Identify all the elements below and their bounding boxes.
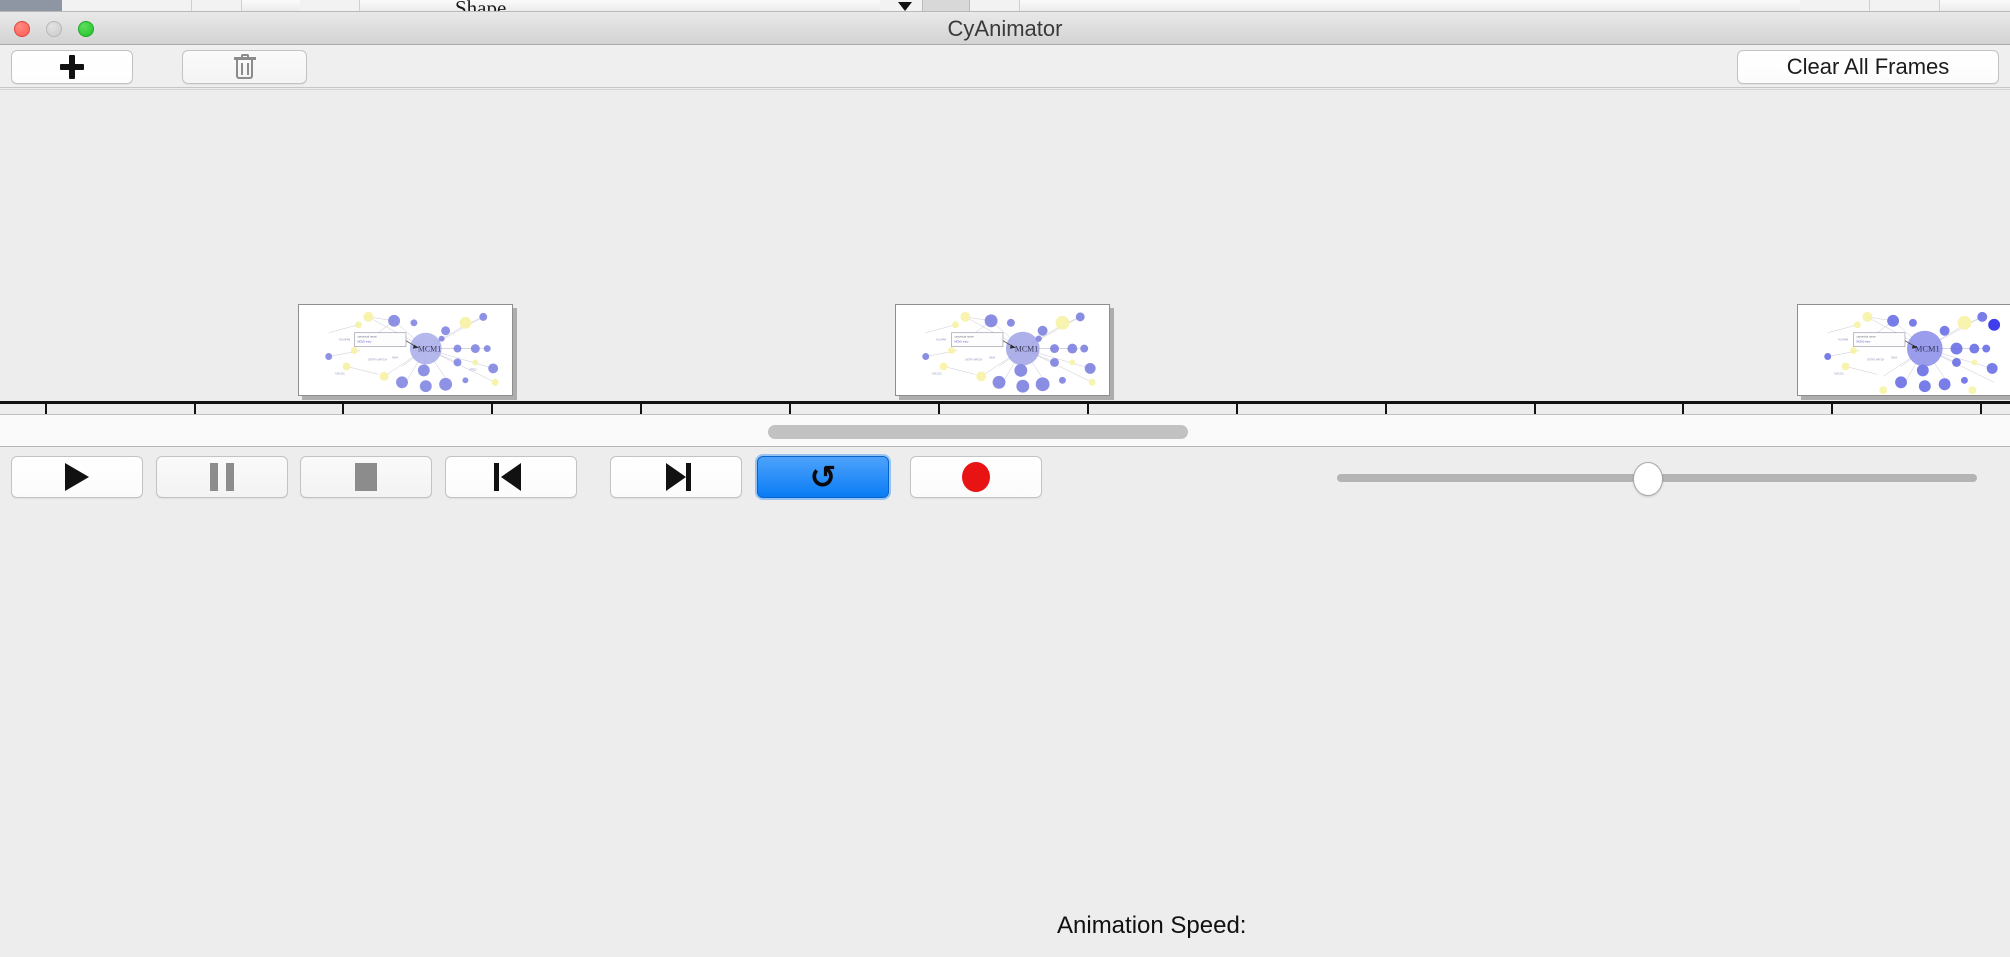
stop-icon <box>355 463 377 491</box>
toolbar: Clear All Frames <box>0 45 2010 88</box>
record-icon <box>962 462 990 492</box>
timeline-minor-tick <box>789 402 791 414</box>
skip-forward-icon <box>659 463 693 491</box>
svg-text:YLR131C: YLR131C <box>932 372 943 375</box>
svg-text:ENTRY MATCH: ENTRY MATCH <box>368 357 386 361</box>
plus-icon <box>59 54 85 80</box>
background-caret-icon <box>898 2 912 11</box>
title-bar[interactable]: CyAnimator <box>0 12 2010 45</box>
timeline-major-tick <box>1236 402 1238 415</box>
skip-back-icon <box>494 463 528 491</box>
timeline-major-tick <box>1831 402 1833 415</box>
background-window-label: Shape <box>455 0 506 12</box>
loop-button[interactable]: ↺ <box>757 456 889 498</box>
timeline-minor-tick <box>1385 402 1387 414</box>
timeline-major-tick <box>640 402 642 415</box>
background-segment <box>1800 0 1870 12</box>
svg-text:SWI4: SWI4 <box>392 356 398 359</box>
background-window-corner <box>0 0 62 12</box>
keyframe-thumbnail[interactable]: YKL044WENTRY MATCH canonical name MCM1 e… <box>298 304 513 396</box>
animation-speed-slider-thumb[interactable] <box>1633 462 1663 496</box>
svg-text:MCM1: MCM1 <box>418 345 441 354</box>
loop-icon: ↺ <box>810 461 837 493</box>
pause-button[interactable] <box>156 456 288 498</box>
svg-text:ENTRY MATCH: ENTRY MATCH <box>1867 358 1884 361</box>
svg-text:MCM1: MCM1 <box>1015 345 1038 354</box>
svg-text:ENTRY MATCH: ENTRY MATCH <box>965 358 982 361</box>
svg-text:canonical name: canonical name <box>1856 335 1876 339</box>
svg-text:SWI4: SWI4 <box>1891 356 1897 359</box>
svg-text:MCM1 entry: MCM1 entry <box>1856 340 1871 344</box>
svg-text:canonical name: canonical name <box>954 335 974 339</box>
background-nub <box>922 0 970 12</box>
delete-frame-button[interactable] <box>182 50 307 84</box>
timeline-minor-tick <box>1087 402 1089 414</box>
keyframe-thumbnail[interactable]: canonical name MCM1 entry MCM1 YKL044WEN… <box>1797 304 2010 396</box>
window-title: CyAnimator <box>0 12 2010 45</box>
stop-button[interactable] <box>300 456 432 498</box>
svg-text:YLR131C: YLR131C <box>1834 372 1845 375</box>
play-button[interactable] <box>11 456 143 498</box>
svg-text:YKL044W: YKL044W <box>339 338 351 342</box>
svg-text:MCM1 entry: MCM1 entry <box>954 340 969 344</box>
add-frame-button[interactable] <box>11 50 133 84</box>
timeline-minor-tick <box>1980 402 1982 414</box>
timeline-major-tick <box>342 402 344 415</box>
svg-text:YKL044W: YKL044W <box>1838 339 1849 342</box>
network-graph-image: canonical name MCM1 entry MCM1 YKL044WEN… <box>896 305 1109 396</box>
timeline-top-divider <box>0 89 2010 90</box>
record-button[interactable] <box>910 456 1042 498</box>
svg-text:YKL044W: YKL044W <box>936 339 947 342</box>
next-frame-button[interactable] <box>610 456 742 498</box>
clear-all-frames-button[interactable]: Clear All Frames <box>1737 50 1999 84</box>
background-segment <box>192 0 242 12</box>
timeline-major-tick <box>1534 402 1536 415</box>
background-segment <box>300 0 360 12</box>
pause-icon <box>210 463 234 491</box>
timeline-major-tick <box>938 402 940 415</box>
scrollbar-row[interactable] <box>0 415 2010 447</box>
svg-text:MCM1 entry: MCM1 entry <box>357 340 372 344</box>
timeline-minor-tick <box>194 402 196 414</box>
timeline-panel[interactable]: YKL044WENTRY MATCH canonical name MCM1 e… <box>0 89 2010 415</box>
animation-speed-label: Animation Speed: <box>1057 894 1246 957</box>
timeline-minor-tick <box>491 402 493 414</box>
svg-text:SWI4: SWI4 <box>989 356 995 359</box>
previous-frame-button[interactable] <box>445 456 577 498</box>
keyframe-thumbnail[interactable]: canonical name MCM1 entry MCM1 YKL044WEN… <box>895 304 1110 396</box>
trash-icon <box>234 54 256 80</box>
background-segment <box>62 0 192 12</box>
timeline-minor-tick <box>1682 402 1684 414</box>
network-graph-image: canonical name MCM1 entry MCM1 YKL044WEN… <box>1798 305 2010 396</box>
horizontal-scrollbar-track[interactable] <box>6 421 2004 440</box>
background-segment <box>1870 0 1940 12</box>
svg-text:YLR131C: YLR131C <box>335 372 346 375</box>
background-window-strip: Shape <box>0 0 2010 12</box>
play-icon <box>65 463 89 491</box>
network-graph-image: YKL044WENTRY MATCH canonical name MCM1 e… <box>299 305 512 396</box>
horizontal-scrollbar-thumb[interactable] <box>768 425 1188 439</box>
svg-text:STE12: STE12 <box>469 368 477 371</box>
timeline-major-tick <box>45 402 47 415</box>
svg-text:canonical name: canonical name <box>357 335 377 339</box>
svg-text:MCM1: MCM1 <box>1915 344 1940 354</box>
timeline-axis-line <box>0 401 2010 404</box>
